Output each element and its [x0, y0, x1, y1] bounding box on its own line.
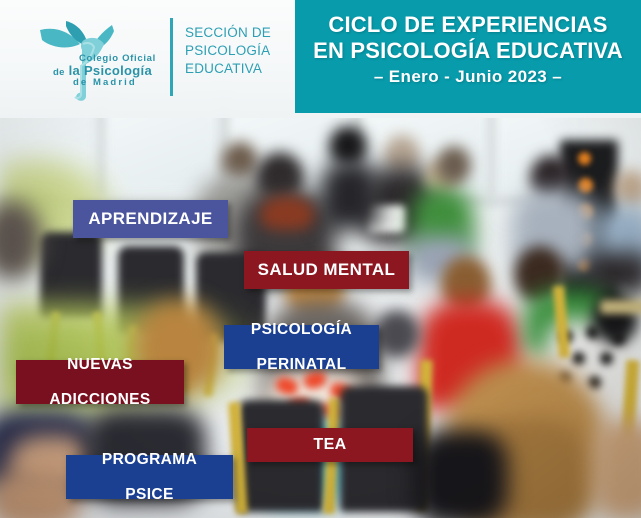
- topic-tag-programa-psice[interactable]: PROGRAMA PSICE: [66, 455, 233, 499]
- topic-label: SALUD MENTAL: [244, 260, 409, 279]
- header-divider: [170, 18, 173, 96]
- poster: Colegio Oficial de la Psicología de Madr…: [0, 0, 641, 518]
- event-dates: – Enero - Junio 2023 –: [295, 67, 641, 87]
- header: Colegio Oficial de la Psicología de Madr…: [0, 0, 641, 118]
- logo-line-2: de la Psicología: [53, 64, 168, 78]
- topic-tag-tea[interactable]: TEA: [247, 428, 413, 462]
- section-title: SECCIÓN DE PSICOLOGÍA EDUCATIVA: [185, 24, 290, 78]
- topic-label-line-2: ADICCIONES: [26, 391, 174, 408]
- colegio-logo: Colegio Oficial de la Psicología de Madr…: [26, 14, 166, 102]
- topic-label-line-1: PSICOLOGÍA: [234, 321, 369, 338]
- topic-label-line-1: NUEVAS: [26, 356, 174, 373]
- section-title-line-2: PSICOLOGÍA: [185, 42, 290, 60]
- topic-label-line-1: PROGRAMA: [76, 451, 223, 468]
- event-banner-text: CICLO DE EXPERIENCIAS EN PSICOLOGÍA EDUC…: [295, 12, 641, 87]
- event-banner: CICLO DE EXPERIENCIAS EN PSICOLOGÍA EDUC…: [295, 0, 641, 113]
- topic-tag-salud-mental[interactable]: SALUD MENTAL: [244, 251, 409, 289]
- logo-prefix: de: [53, 67, 65, 78]
- logo-line-3: de Madrid: [73, 78, 168, 88]
- topic-label: APRENDIZAJE: [73, 209, 228, 228]
- topic-label-line-2: PERINATAL: [234, 356, 369, 373]
- topic-label: PROGRAMA PSICE: [66, 451, 233, 503]
- section-title-line-3: EDUCATIVA: [185, 60, 290, 78]
- section-title-line-1: SECCIÓN DE: [185, 24, 290, 42]
- topic-tag-psicologia-perinatal[interactable]: PSICOLOGÍA PERINATAL: [224, 325, 379, 369]
- topic-label: PSICOLOGÍA PERINATAL: [224, 321, 379, 373]
- event-title-line-2: EN PSICOLOGÍA EDUCATIVA: [295, 38, 641, 64]
- topic-tag-nuevas-adicciones[interactable]: NUEVAS ADICCIONES: [16, 360, 184, 404]
- topic-label: TEA: [247, 436, 413, 454]
- event-title-line-1: CICLO DE EXPERIENCIAS: [295, 12, 641, 38]
- logo-line-2-text: la Psicología: [69, 63, 152, 78]
- topic-tag-aprendizaje[interactable]: APRENDIZAJE: [73, 200, 228, 238]
- topic-label: NUEVAS ADICCIONES: [16, 356, 184, 408]
- logo-wordmark: Colegio Oficial de la Psicología de Madr…: [53, 54, 168, 88]
- topic-label-line-2: PSICE: [76, 486, 223, 503]
